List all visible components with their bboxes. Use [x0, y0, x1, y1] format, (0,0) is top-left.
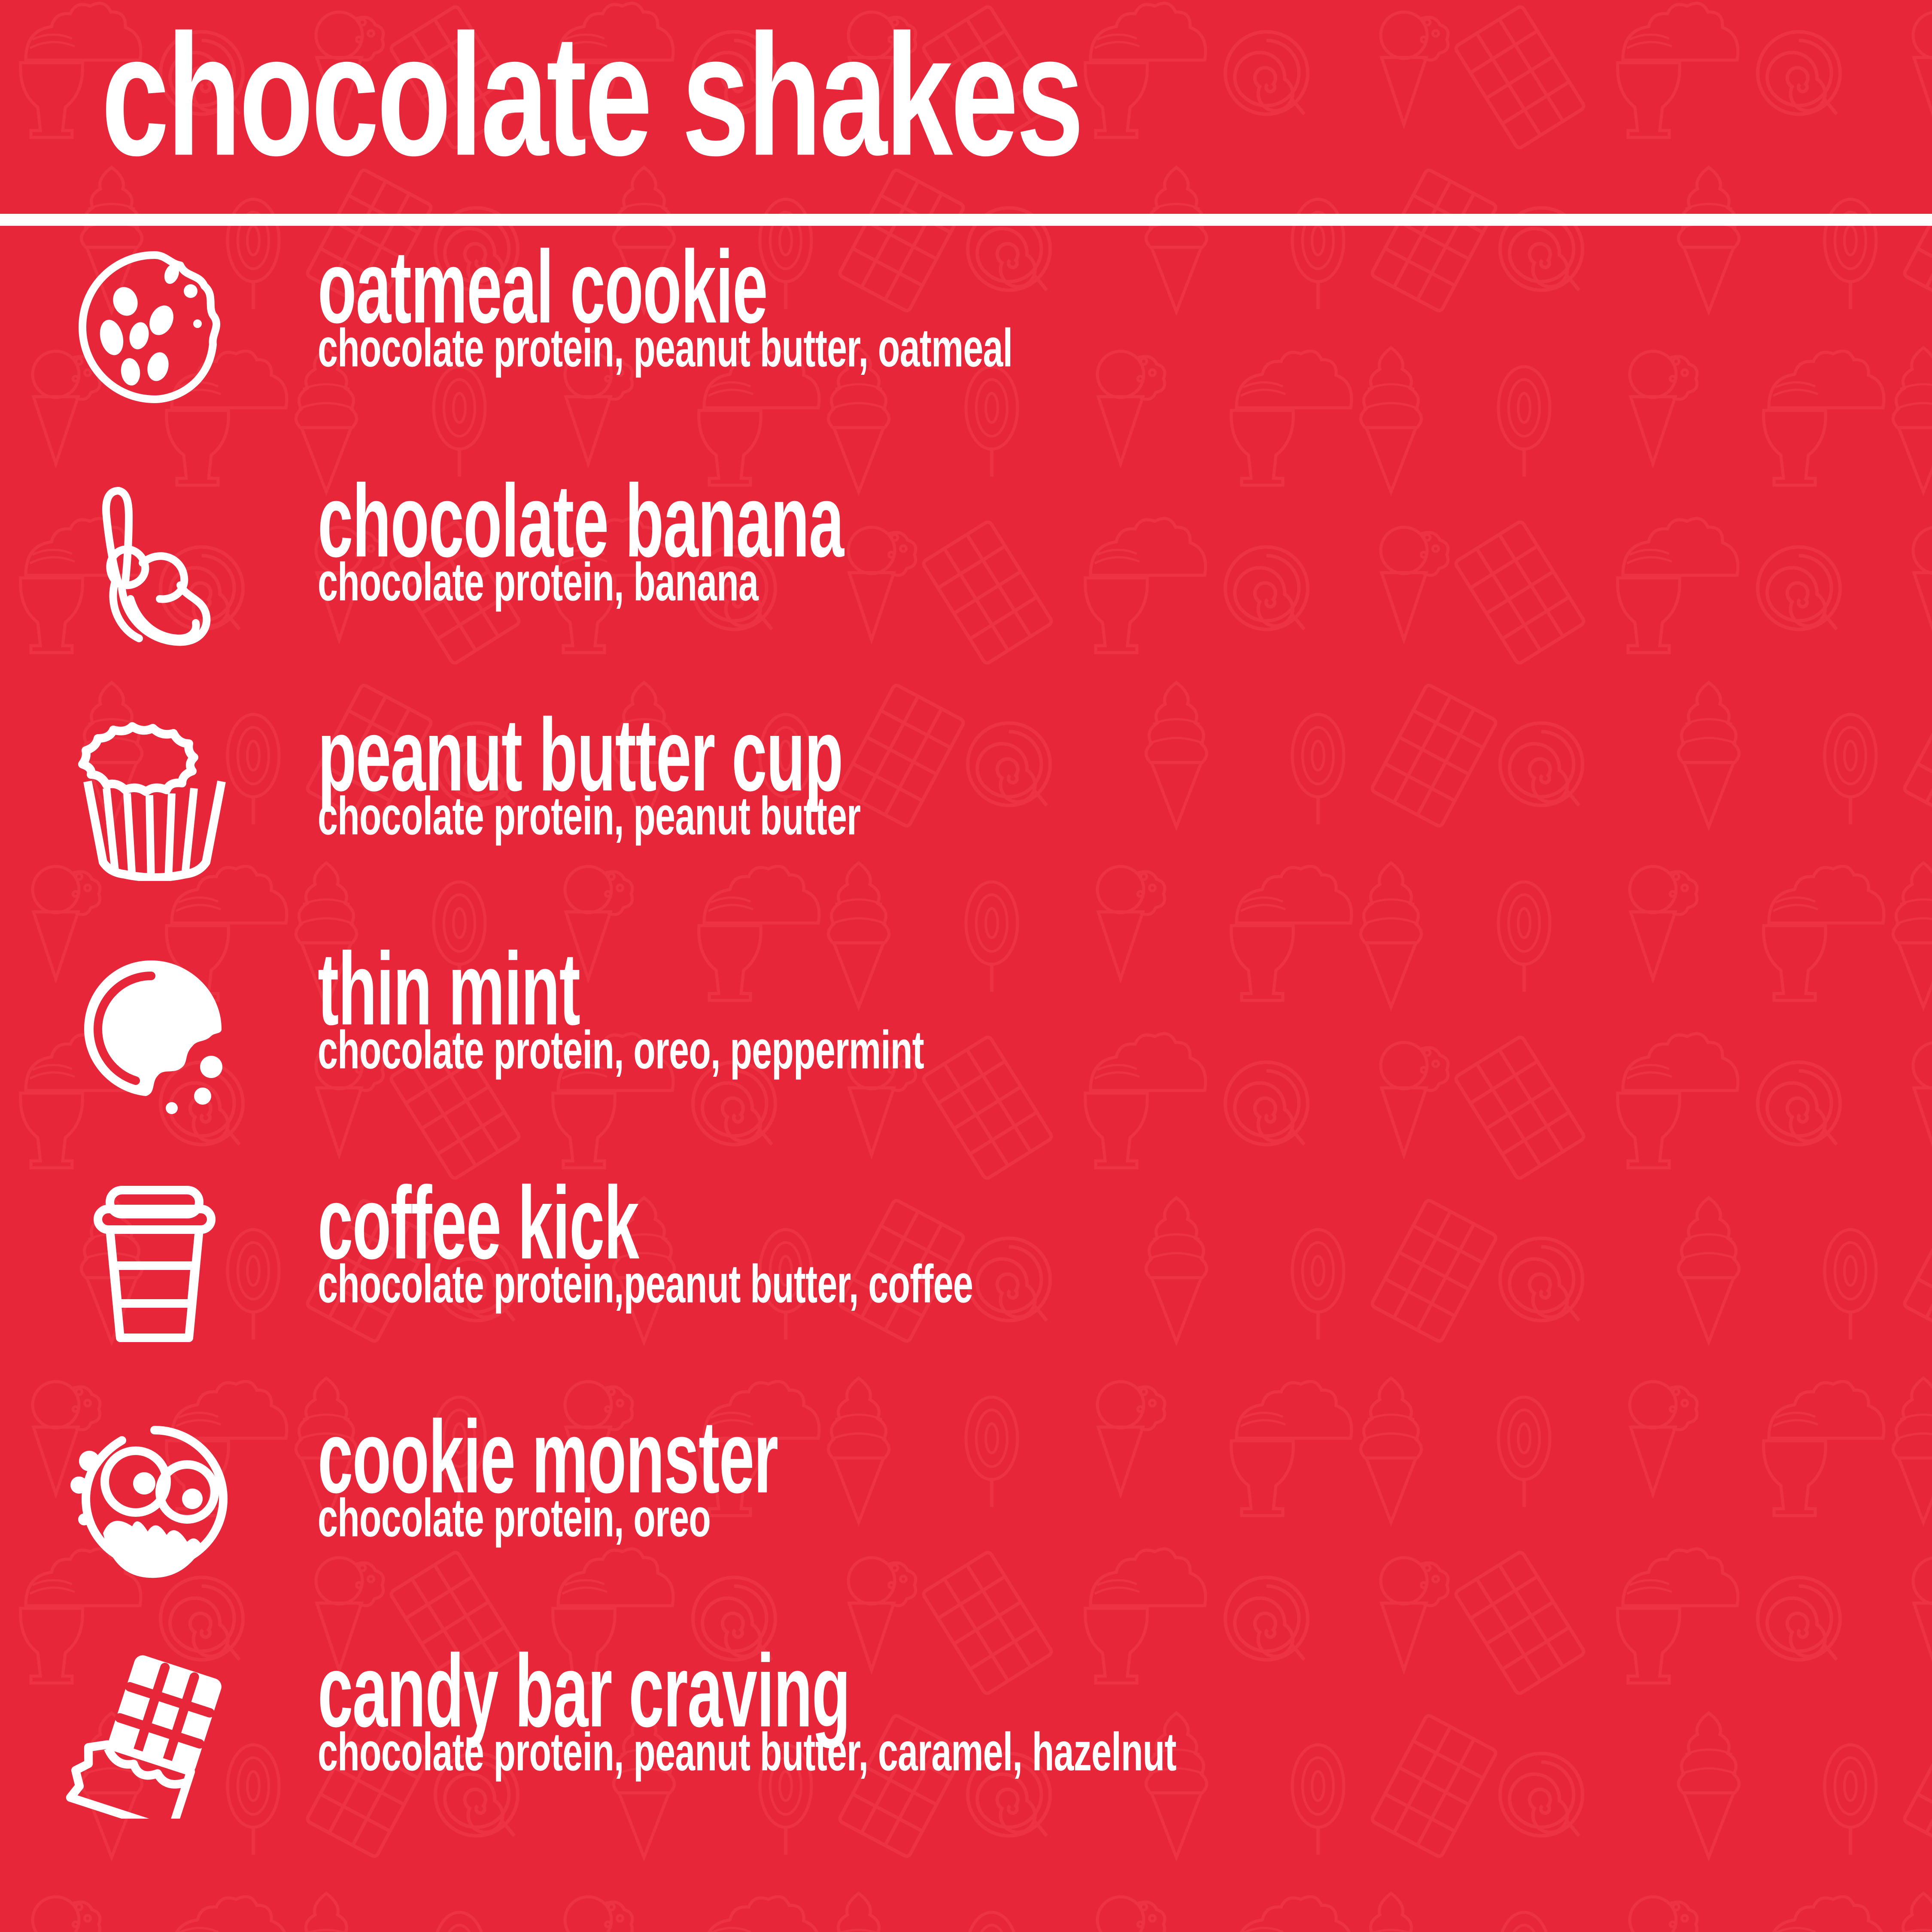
item-text-block: coffee kick chocolate protein,peanut but… — [318, 1176, 1906, 1301]
item-text-block: thin mint chocolate protein, oreo, peppe… — [318, 942, 1906, 1067]
item-description: chocolate protein, oreo, peppermint — [318, 1024, 1620, 1076]
chocolate-bar-icon — [64, 1647, 245, 1819]
list-item[interactable]: oatmeal cookie chocolate protein, peanut… — [0, 233, 1932, 467]
item-text-block: candy bar craving chocolate protein, pea… — [318, 1644, 1906, 1769]
item-description: chocolate protein, peanut butter — [318, 790, 1620, 842]
bitten-cookie-icon — [64, 945, 245, 1117]
list-item[interactable]: candy bar craving chocolate protein, pea… — [0, 1637, 1932, 1871]
item-text-block: chocolate banana chocolate protein, bana… — [318, 474, 1906, 599]
item-text-block: peanut butter cup chocolate protein, pea… — [318, 708, 1906, 833]
item-description: chocolate protein, peanut butter, oatmea… — [318, 322, 1620, 374]
item-description: chocolate protein, peanut butter, carame… — [318, 1726, 1620, 1778]
peeled-banana-icon — [64, 479, 245, 650]
item-text-block: cookie monster chocolate protein, oreo — [318, 1410, 1906, 1535]
shake-menu-list: oatmeal cookie chocolate protein, peanut… — [0, 223, 1932, 1932]
item-description: chocolate protein,peanut butter, coffee — [318, 1258, 1620, 1310]
item-description: chocolate protein, banana — [318, 556, 1620, 608]
list-item[interactable]: cookie monster chocolate protein, oreo — [0, 1403, 1932, 1637]
chocolate-chip-cookie-icon — [64, 241, 245, 413]
list-item[interactable]: peanut butter cup chocolate protein, pea… — [0, 701, 1932, 935]
list-item[interactable]: chocolate banana chocolate protein, bana… — [0, 467, 1932, 701]
item-text-block: oatmeal cookie chocolate protein, peanut… — [318, 240, 1906, 365]
list-item[interactable]: coffee kick chocolate protein,peanut but… — [0, 1169, 1932, 1403]
list-item[interactable]: thin mint chocolate protein, oreo, peppe… — [0, 935, 1932, 1169]
monster-face-icon — [64, 1411, 245, 1583]
item-description: chocolate protein, oreo — [318, 1492, 1620, 1544]
cupcake-liner-icon — [64, 709, 245, 881]
coffee-cup-icon — [64, 1178, 245, 1350]
poster-header: chocolate shakes — [0, 0, 1932, 223]
page-title: chocolate shakes — [101, 9, 1082, 182]
poster-root: chocolate shakes — [0, 0, 1932, 1932]
